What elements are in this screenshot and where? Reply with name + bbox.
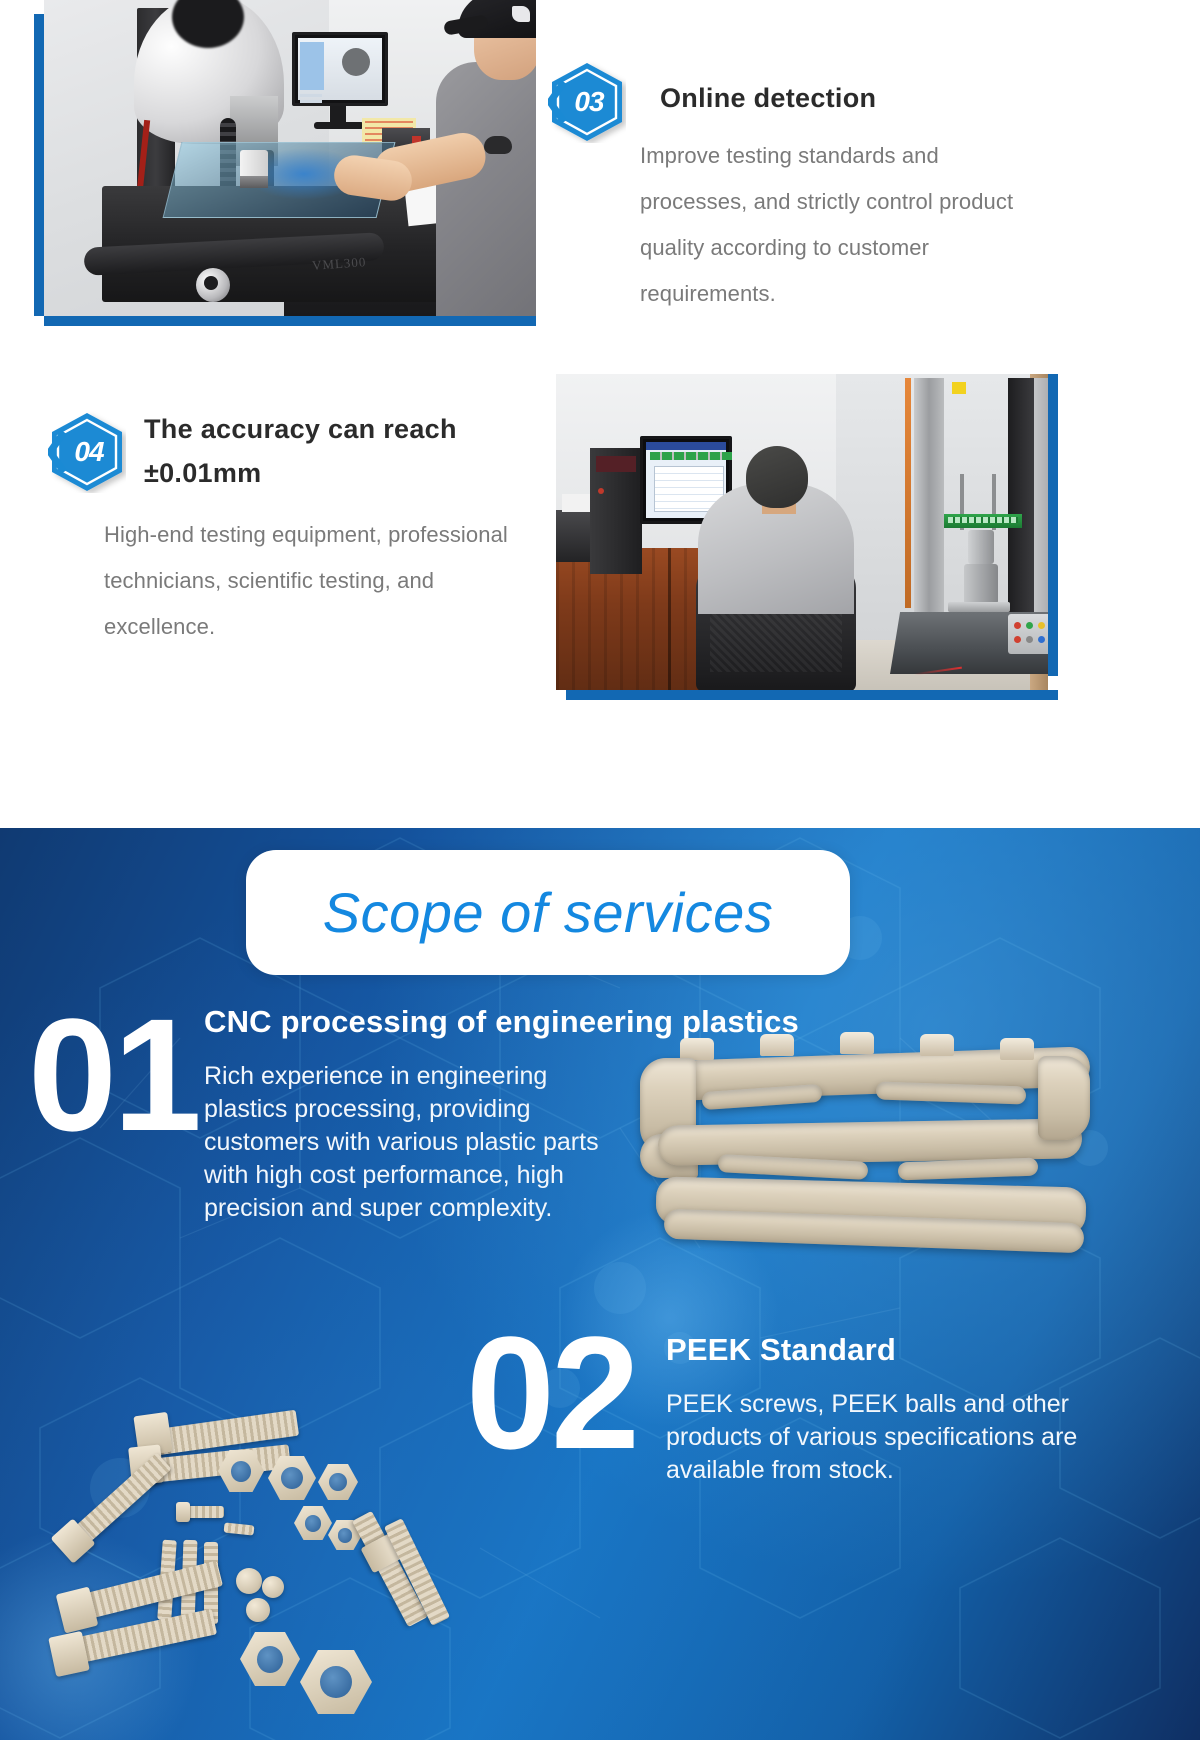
service-number-01: 01	[28, 1000, 198, 1150]
measurement-monitor	[292, 32, 388, 106]
chain-plate-cap-right	[1038, 1056, 1090, 1140]
bolt-3-shaft	[77, 1453, 172, 1542]
computer-mouse	[484, 136, 512, 154]
tester-column-left	[914, 378, 944, 628]
photo-accent-bar-right	[1048, 374, 1058, 676]
online-detection-photo-frame: VML300	[44, 0, 536, 316]
control-panel	[1008, 614, 1048, 654]
nut-3	[318, 1464, 358, 1500]
screw-small-2	[224, 1522, 255, 1535]
nut-6	[240, 1632, 300, 1686]
app-toolbar	[650, 452, 732, 460]
panel-led-red	[1014, 622, 1021, 629]
operator-cap	[458, 0, 536, 38]
badge-03-number: 03	[548, 61, 626, 143]
photo-accent-bar-bottom	[566, 690, 1058, 700]
marketing-page: VML300	[0, 0, 1200, 1740]
chain-plate-rib-4	[898, 1158, 1039, 1181]
measured-circle	[342, 48, 370, 76]
tester-column-right	[1034, 378, 1048, 628]
scene-optical-comparator: VML300	[44, 0, 536, 316]
panel-led-red-2	[1014, 636, 1021, 643]
optical-drive-bay	[596, 456, 636, 472]
feature-body-online-detection: Improve testing standards and processes,…	[640, 133, 1030, 317]
tester-base-plate	[948, 602, 1010, 612]
panel-led-gray	[1026, 636, 1033, 643]
service-body-peek-standard: PEEK screws, PEEK balls and other produc…	[666, 1388, 1096, 1487]
feature-title-online-detection: Online detection	[660, 76, 1040, 120]
technician-head	[746, 446, 808, 508]
photo-online-detection: VML300	[44, 0, 536, 316]
app-titlebar	[646, 442, 726, 450]
peek-chain-plate-image	[640, 1030, 1090, 1270]
scene-tensile-lab	[556, 374, 1048, 690]
power-led	[598, 488, 604, 494]
feature-title-accuracy: The accuracy can reach ±0.01mm	[144, 407, 544, 495]
service-number-02: 02	[466, 1318, 636, 1468]
photo-accent-bar-left	[34, 14, 44, 316]
panel-led-blue	[1038, 636, 1045, 643]
scope-title-card: Scope of services	[246, 850, 850, 975]
green-crosshead	[944, 514, 1022, 528]
photo-accent-bar-bottom	[44, 316, 536, 326]
washer-2	[262, 1576, 284, 1598]
scope-title-text: Scope of services	[323, 880, 773, 945]
orange-stripe	[905, 378, 911, 608]
washer-1	[236, 1568, 262, 1594]
badge-04: 04	[48, 411, 126, 493]
screw-small-1-head	[176, 1502, 190, 1522]
nut-7	[300, 1650, 372, 1714]
cabinet-seam	[668, 548, 671, 690]
photo-tensile-testing	[556, 374, 1048, 690]
nut-4	[294, 1506, 332, 1540]
panel-led-green	[1026, 622, 1033, 629]
software-left-panel	[300, 42, 324, 90]
warning-label	[952, 382, 966, 394]
peek-screws-image	[40, 1428, 470, 1728]
panel-led-yellow	[1038, 622, 1045, 629]
computer-tower	[590, 448, 642, 574]
cap-logo	[512, 6, 530, 22]
screw-small-1	[184, 1506, 224, 1518]
knob-center	[204, 276, 218, 290]
service-body-cnc: Rich experience in engineering plastics …	[204, 1060, 624, 1225]
chain-plate-rib-2	[876, 1081, 1027, 1104]
badge-03: 03	[548, 61, 626, 143]
service-title-peek-standard: PEEK Standard	[666, 1330, 1106, 1370]
tensile-testing-photo-frame	[556, 374, 1048, 690]
lower-grip	[964, 564, 998, 604]
upper-grip	[968, 530, 994, 564]
features-section: VML300	[0, 0, 1200, 828]
washer-3	[246, 1598, 270, 1622]
white-specimen	[240, 150, 268, 182]
feature-body-accuracy: High-end testing equipment, professional…	[104, 512, 534, 650]
monitor-foot	[314, 122, 364, 129]
monitor-screen	[298, 38, 382, 100]
tester-column-dark	[1008, 378, 1034, 628]
operator-body	[436, 62, 536, 316]
badge-04-number: 04	[48, 411, 126, 493]
